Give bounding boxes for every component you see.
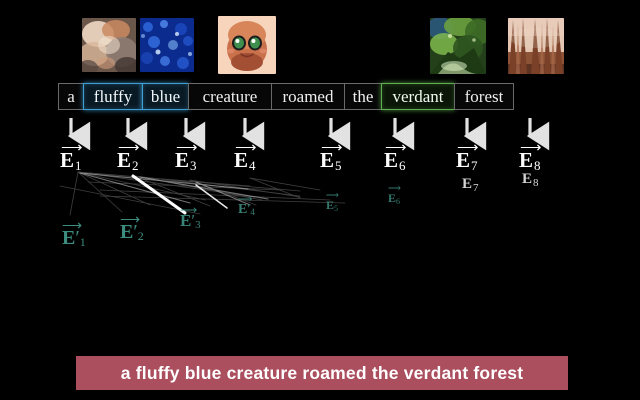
context-subscript: 2 bbox=[138, 229, 144, 243]
down-arrow-group bbox=[71, 118, 530, 136]
embedding-subscript: 2 bbox=[132, 158, 139, 173]
attention-line bbox=[100, 190, 330, 200]
token-label: verdant bbox=[393, 88, 444, 105]
token-the[interactable]: the bbox=[344, 83, 382, 110]
context-subscript: 3 bbox=[195, 219, 201, 231]
animation-canvas: a fluffy blue creature roamed the verdan… bbox=[0, 0, 640, 400]
forest-scene-thumbnail bbox=[508, 18, 564, 74]
verdant-scene-thumbnail bbox=[430, 18, 486, 74]
caption-bar: a fluffy blue creature roamed the verdan… bbox=[76, 356, 568, 390]
vector-arrow-icon: ⟶ bbox=[385, 141, 406, 156]
token-roamed[interactable]: roamed bbox=[271, 83, 345, 110]
token-label: a bbox=[67, 88, 75, 105]
creature-thumbnail bbox=[218, 16, 276, 74]
token-label: fluffy bbox=[94, 88, 132, 105]
embedding-vector-8: ⟶E8 bbox=[519, 150, 541, 172]
forest-scene-art bbox=[508, 18, 564, 74]
vector-arrow-icon: ⟶ bbox=[235, 141, 256, 156]
vector-arrow-icon: ⟶ bbox=[61, 141, 82, 156]
context-symbol: E bbox=[326, 198, 334, 212]
embedding-symbol: E bbox=[462, 176, 472, 192]
token-label: creature bbox=[203, 88, 258, 105]
embedding-vector-3: ⟶E3 bbox=[175, 150, 197, 172]
vector-arrow-icon: ⟶ bbox=[176, 141, 197, 156]
context-vector-2: ⟶E′2 bbox=[120, 222, 144, 242]
token-forest[interactable]: forest bbox=[454, 83, 514, 110]
embedding-subscript: 8 bbox=[534, 158, 541, 173]
context-vector-4: ⟶E′4 bbox=[238, 203, 255, 217]
embedding-subscript: 1 bbox=[75, 158, 82, 173]
attention-line-group bbox=[60, 172, 345, 215]
blue-texture-art bbox=[140, 18, 194, 72]
token-fluffy[interactable]: fluffy bbox=[83, 83, 143, 110]
attention-line bbox=[78, 172, 250, 186]
embedding-vector-4: ⟶E4 bbox=[234, 150, 256, 172]
caption-text: a fluffy blue creature roamed the verdan… bbox=[121, 363, 523, 384]
token-blue[interactable]: blue bbox=[142, 83, 189, 110]
embedding-vector-8-ghost: E8 bbox=[522, 172, 539, 189]
token-label: the bbox=[353, 88, 374, 105]
embedding-subscript: 3 bbox=[190, 158, 197, 173]
vector-arrow-icon: ⟶ bbox=[180, 204, 196, 216]
vector-arrow-icon: ⟶ bbox=[120, 214, 139, 228]
attention-line bbox=[60, 186, 200, 214]
embedding-subscript: 8 bbox=[533, 177, 539, 189]
attention-line bbox=[70, 172, 78, 215]
attention-line bbox=[88, 182, 280, 190]
vector-arrow-icon: ⟶ bbox=[238, 195, 251, 205]
embedding-subscript: 7 bbox=[471, 158, 478, 173]
token-a[interactable]: a bbox=[58, 83, 84, 110]
embedding-symbol: E bbox=[522, 171, 532, 187]
attention-line bbox=[135, 176, 300, 196]
embedding-subscript: 5 bbox=[335, 158, 342, 173]
attention-line-active bbox=[196, 185, 227, 208]
attention-line bbox=[80, 173, 190, 203]
context-subscript: 5 bbox=[334, 204, 338, 213]
embedding-vector-6: ⟶E6 bbox=[384, 150, 406, 172]
attention-line bbox=[135, 176, 210, 206]
vector-arrow-icon: ⟶ bbox=[520, 141, 541, 156]
context-subscript: 4 bbox=[250, 207, 255, 217]
attention-line bbox=[78, 172, 255, 197]
context-subscript: 1 bbox=[80, 235, 86, 249]
context-subscript: 6 bbox=[396, 197, 400, 206]
embedding-vector-5: ⟶E5 bbox=[320, 150, 342, 172]
vector-arrow-icon: ⟶ bbox=[457, 141, 478, 156]
attention-line-active bbox=[133, 176, 185, 213]
attention-line bbox=[78, 172, 205, 200]
token-row: a fluffy blue creature roamed the verdan… bbox=[58, 83, 514, 110]
vector-arrow-icon: ⟶ bbox=[326, 191, 338, 200]
attention-line bbox=[80, 173, 248, 189]
embedding-subscript: 7 bbox=[473, 182, 479, 194]
attention-line bbox=[78, 172, 150, 205]
embedding-vector-1: ⟶E1 bbox=[60, 150, 82, 172]
vector-arrow-icon: ⟶ bbox=[321, 141, 342, 156]
embedding-vector-7: ⟶E7 bbox=[456, 150, 478, 172]
embedding-vector-2: ⟶E2 bbox=[117, 150, 139, 172]
context-vector-3: ⟶E′3 bbox=[180, 212, 201, 231]
embedding-subscript: 6 bbox=[399, 158, 406, 173]
attention-line bbox=[250, 178, 300, 198]
context-vector-6: ⟶E6 bbox=[388, 192, 400, 206]
attention-line bbox=[250, 178, 320, 190]
vector-arrow-icon: ⟶ bbox=[118, 141, 139, 156]
token-label: roamed bbox=[283, 88, 334, 105]
token-label: forest bbox=[465, 88, 504, 105]
vector-arrow-icon: ⟶ bbox=[62, 220, 81, 234]
attention-line bbox=[100, 196, 345, 203]
token-verdant[interactable]: verdant bbox=[381, 83, 455, 110]
token-creature[interactable]: creature bbox=[188, 83, 272, 110]
context-vector-5: ⟶E5 bbox=[326, 199, 338, 213]
creature-art bbox=[218, 16, 276, 74]
context-symbol: E bbox=[388, 191, 396, 205]
fluffy-texture-thumbnail bbox=[82, 18, 136, 72]
embedding-subscript: 4 bbox=[249, 158, 256, 173]
embedding-vector-7-ghost: E7 bbox=[462, 177, 479, 194]
token-label: blue bbox=[151, 88, 180, 105]
vector-arrow-icon: ⟶ bbox=[388, 184, 400, 193]
context-vector-1: ⟶E′1 bbox=[62, 228, 86, 248]
attention-line bbox=[78, 172, 300, 191]
blue-texture-thumbnail bbox=[140, 18, 194, 72]
attention-line bbox=[78, 172, 122, 212]
fluffy-texture-art bbox=[82, 18, 136, 72]
verdant-scene-art bbox=[430, 18, 486, 74]
